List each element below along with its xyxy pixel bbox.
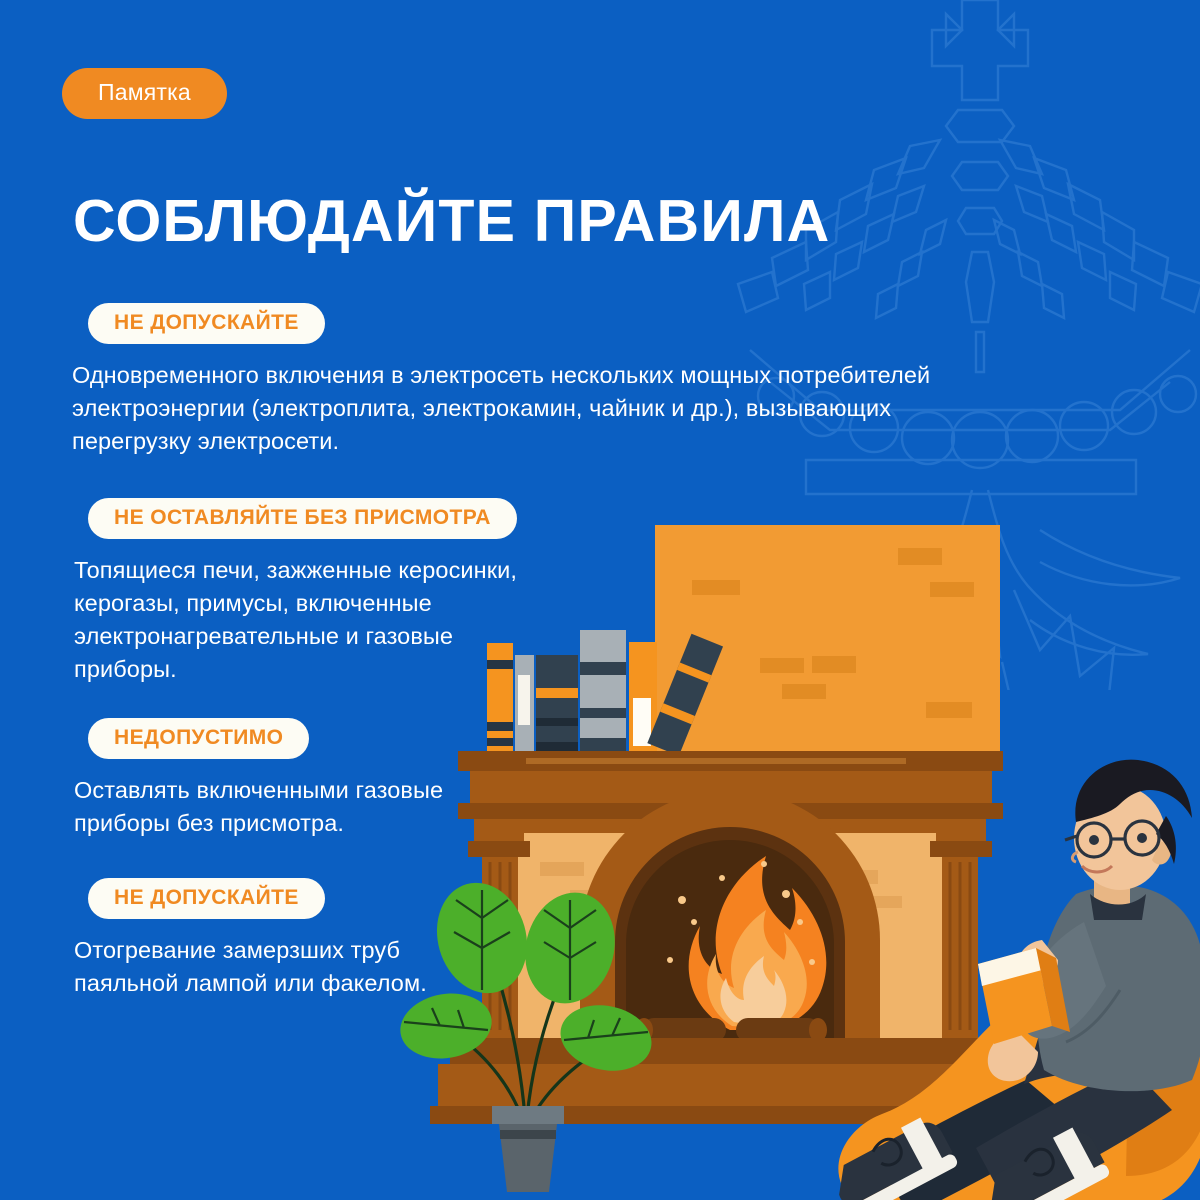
rule-body: Отогревание замерзших труб паяльной ламп…	[74, 934, 427, 1000]
rule-line: приборы без присмотра.	[74, 807, 443, 840]
rule-item: НЕДОПУСТИМО Оставлять включенными газовы…	[74, 718, 443, 840]
rule-pill: НЕ ДОПУСКАЙТЕ	[88, 303, 325, 344]
rule-line: приборы.	[74, 653, 517, 686]
rule-line: электронагревательные и газовые	[74, 620, 517, 653]
rule-line: Одновременного включения в электросеть н…	[72, 359, 930, 392]
fireplace-illustration	[430, 470, 1200, 1200]
poster-canvas: Памятка СОБЛЮДАЙТЕ ПРАВИЛА	[0, 0, 1200, 1200]
rule-line: перегрузку электросети.	[72, 425, 930, 458]
rule-body: Топящиеся печи, зажженные керосинки, кер…	[74, 554, 517, 686]
rule-line: Оставлять включенными газовые	[74, 774, 443, 807]
rule-pill: НЕДОПУСТИМО	[88, 718, 309, 759]
rule-body: Одновременного включения в электросеть н…	[72, 359, 930, 458]
page-title: СОБЛЮДАЙТЕ ПРАВИЛА	[73, 192, 830, 251]
rule-line: Топящиеся печи, зажженные керосинки,	[74, 554, 517, 587]
rule-pill: НЕ ДОПУСКАЙТЕ	[88, 878, 325, 919]
rule-line: электроэнергии (электроплита, электрокам…	[72, 392, 930, 425]
rule-line: керогазы, примусы, включенные	[74, 587, 517, 620]
rule-item: НЕ ДОПУСКАЙТЕ Отогревание замерзших труб…	[74, 878, 427, 1000]
rule-body: Оставлять включенными газовые приборы бе…	[74, 774, 443, 840]
rule-line: Отогревание замерзших труб	[74, 934, 427, 967]
memo-badge: Памятка	[62, 68, 227, 119]
rule-pill: НЕ ОСТАВЛЯЙТЕ БЕЗ ПРИСМОТРА	[88, 498, 517, 539]
rule-item: НЕ ДОПУСКАЙТЕ Одновременного включения в…	[74, 303, 930, 458]
rule-item: НЕ ОСТАВЛЯЙТЕ БЕЗ ПРИСМОТРА Топящиеся пе…	[74, 498, 517, 686]
rule-line: паяльной лампой или факелом.	[74, 967, 427, 1000]
